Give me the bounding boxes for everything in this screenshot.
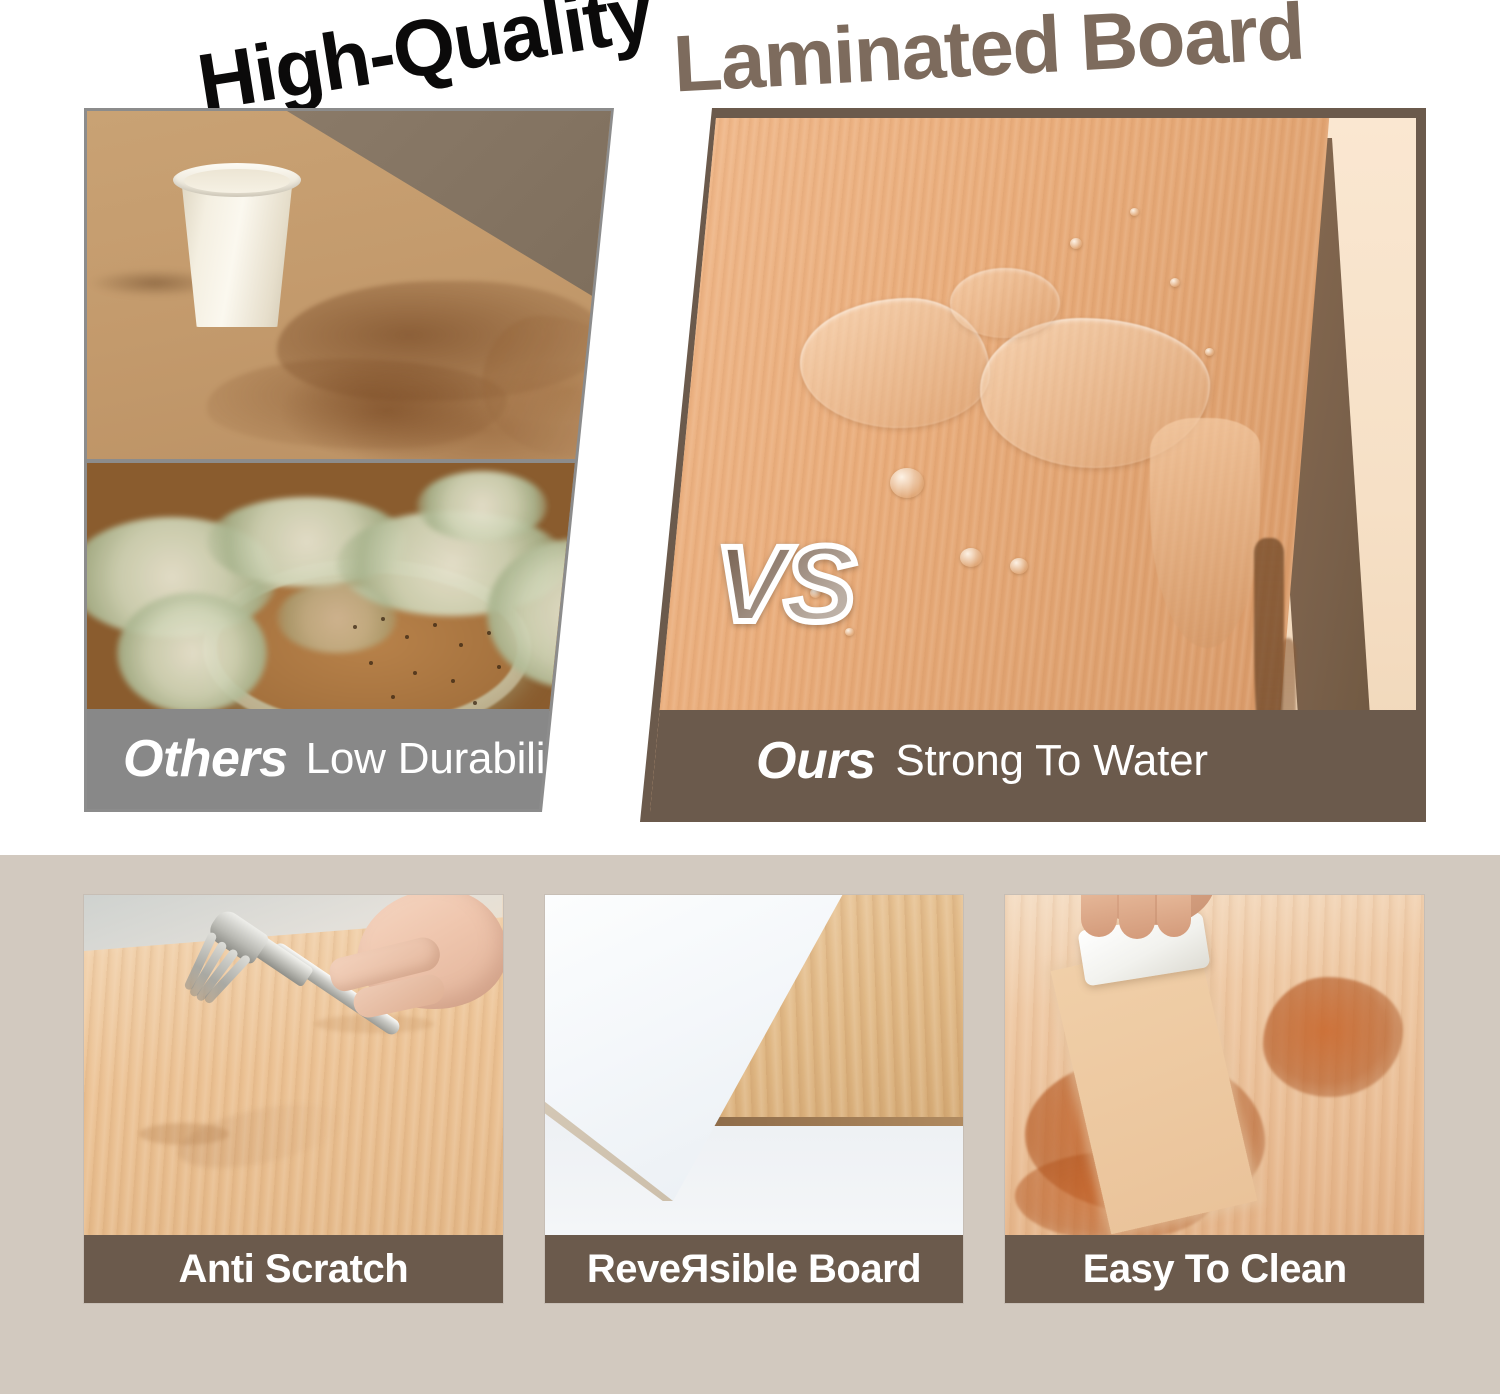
feature-label-bar: Easy To Clean — [1005, 1235, 1424, 1303]
page-title: High-Quality Laminated Board — [0, 2, 1500, 94]
paper-cup — [173, 155, 301, 327]
ours-label-strong: Ours — [756, 731, 875, 791]
wood-board-edge — [704, 1117, 964, 1126]
comparison-section: Others Low Durability — [84, 108, 1426, 822]
feature-card-easy-to-clean: Easy To Clean — [1005, 895, 1424, 1303]
water-droplet — [1130, 208, 1139, 216]
hand — [327, 895, 503, 1039]
ours-panel: Ours Strong To Water — [640, 108, 1426, 822]
mold-specks — [347, 613, 537, 711]
feature-label-bar: ReveЯsible Board — [545, 1235, 964, 1303]
water-droplet — [960, 548, 982, 567]
water-droplet — [1205, 348, 1214, 356]
features-section: Anti Scratch ReveЯsible Board — [0, 855, 1500, 1394]
others-label-strong: Others — [123, 729, 288, 789]
water-droplet — [1010, 558, 1028, 574]
spill-puddle-secondary — [207, 359, 507, 449]
feature-card-reversible-board: ReveЯsible Board — [545, 895, 964, 1303]
photo-wiping-sauce-stain-clean — [1005, 895, 1424, 1235]
ours-label-bar: Ours Strong To Water — [650, 710, 1416, 812]
water-pool — [950, 268, 1060, 338]
title-part-two: Laminated Board — [671, 0, 1306, 110]
finger — [1119, 895, 1155, 939]
water-droplet — [1170, 278, 1180, 287]
feature-card-anti-scratch: Anti Scratch — [84, 895, 503, 1303]
photo-reversible-board-two-sides — [545, 895, 964, 1235]
ours-label-light: Strong To Water — [895, 736, 1207, 786]
others-panel-inner: Others Low Durability — [87, 111, 611, 809]
cup-body — [181, 177, 293, 327]
feature-label: Easy To Clean — [1083, 1247, 1347, 1292]
others-label-bar: Others Low Durability — [87, 709, 611, 809]
water-droplet — [1070, 238, 1082, 249]
ours-panel-inner: Ours Strong To Water — [650, 118, 1416, 812]
feature-label: Anti Scratch — [179, 1247, 409, 1292]
feature-label-bar: Anti Scratch — [84, 1235, 503, 1303]
water-droplet — [890, 468, 924, 498]
finger — [1157, 895, 1191, 937]
others-panel: Others Low Durability — [84, 108, 614, 812]
product-infographic: High-Quality Laminated Board — [0, 0, 1500, 1394]
photo-fork-scratching-wood-surface — [84, 895, 503, 1235]
vs-badge: VS — [684, 523, 884, 643]
hand — [1067, 895, 1237, 949]
photo-mold-growth-on-board — [87, 463, 611, 711]
cup-interior — [184, 169, 290, 193]
spill-runoff — [482, 316, 611, 456]
feature-label: ReveЯsible Board — [587, 1247, 921, 1292]
photo-coffee-spill-on-mdf — [87, 111, 611, 459]
finger — [1081, 895, 1117, 937]
features-grid: Anti Scratch ReveЯsible Board — [84, 895, 1424, 1303]
mold-patch — [417, 471, 547, 541]
mold-patch — [117, 593, 267, 711]
others-label-light: Low Durability — [306, 734, 580, 784]
